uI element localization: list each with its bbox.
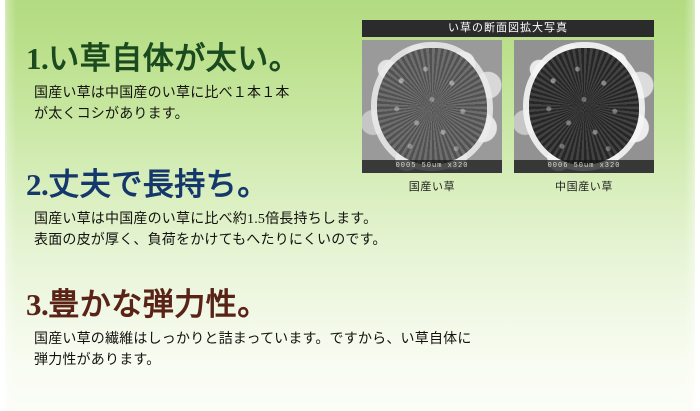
benefit-3-heading-text: 豊かな弾力性。 [48,287,269,322]
photo-cell-chinese: 0006 50um x320 中国産い草 [514,40,654,194]
scalebar-text-domestic: 0005 50um x320 [396,162,469,170]
benefit-2-body-line-1: 国産い草は中国産のい草に比べ約1.5倍長持ちします。 [34,209,387,231]
photo-row: 0005 50um x320 国産い草 0006 50um x320 中国 [362,40,654,194]
photo-cell-domestic: 0005 50um x320 国産い草 [362,40,502,194]
benefit-2-heading-text: 丈夫で長持ち。 [48,167,269,202]
igusa-features-infographic: 1.い草自体が太い。 国産い草は中国産のい草に比べ１本１本 が太くコシがあります… [0,0,700,411]
benefit-3-heading: 3.豊かな弾力性。 [26,288,472,323]
fibre-core-chinese [529,48,638,165]
benefit-section-1: 1.い草自体が太い。 国産い草は中国産のい草に比べ１本１本 が太くコシがあります… [26,42,300,126]
benefit-section-2: 2.丈夫で長持ち。 国産い草は中国産のい草に比べ約1.5倍長持ちします。 表面の… [26,168,387,252]
scalebar-domestic: 0005 50um x320 [362,160,502,173]
benefit-2-number: 2. [26,167,48,202]
scalebar-text-chinese: 0006 50um x320 [548,162,621,170]
photo-panel-header: い草の断面図拡大写真 [362,20,654,37]
photo-caption-chinese: 中国産い草 [514,178,654,194]
benefit-2-body-line-2: 表面の皮が厚く、負荷をかけてもへたりにくいのです。 [34,230,387,252]
benefit-section-3: 3.豊かな弾力性。 国産い草の繊維はしっかりと詰まっています。ですから、い草自体… [26,288,472,372]
benefit-1-body: 国産い草は中国産のい草に比べ１本１本 が太くコシがあります。 [34,83,300,126]
content-layer: 1.い草自体が太い。 国産い草は中国産のい草に比べ１本１本 が太くコシがあります… [0,0,700,411]
fibre-core-texture-domestic [377,48,486,165]
benefit-3-number: 3. [26,287,48,322]
fibre-core-domestic [377,48,486,165]
benefit-3-body-line-2: 弾力性があります。 [34,350,472,372]
fibre-core-texture-chinese [529,48,638,165]
cross-section-photo-panel: い草の断面図拡大写真 0005 50um x320 国産い草 [362,20,654,194]
benefit-3-body: 国産い草の繊維はしっかりと詰まっています。ですから、い草自体に 弾力性があります… [34,329,472,372]
micrograph-chinese-igusa: 0006 50um x320 [514,40,654,173]
scalebar-chinese: 0006 50um x320 [514,160,654,173]
benefit-1-heading: 1.い草自体が太い。 [26,42,300,77]
benefit-1-heading-text: い草自体が太い。 [48,41,300,76]
micrograph-domestic-igusa: 0005 50um x320 [362,40,502,173]
benefit-1-body-line-1: 国産い草は中国産のい草に比べ１本１本 [34,83,300,105]
benefit-2-heading: 2.丈夫で長持ち。 [26,168,387,203]
benefit-1-body-line-2: が太くコシがあります。 [34,104,300,126]
benefit-3-body-line-1: 国産い草の繊維はしっかりと詰まっています。ですから、い草自体に [34,329,472,351]
benefit-2-body: 国産い草は中国産のい草に比べ約1.5倍長持ちします。 表面の皮が厚く、負荷をかけ… [34,209,387,252]
photo-caption-domestic: 国産い草 [362,178,502,194]
benefit-1-number: 1. [26,41,48,76]
